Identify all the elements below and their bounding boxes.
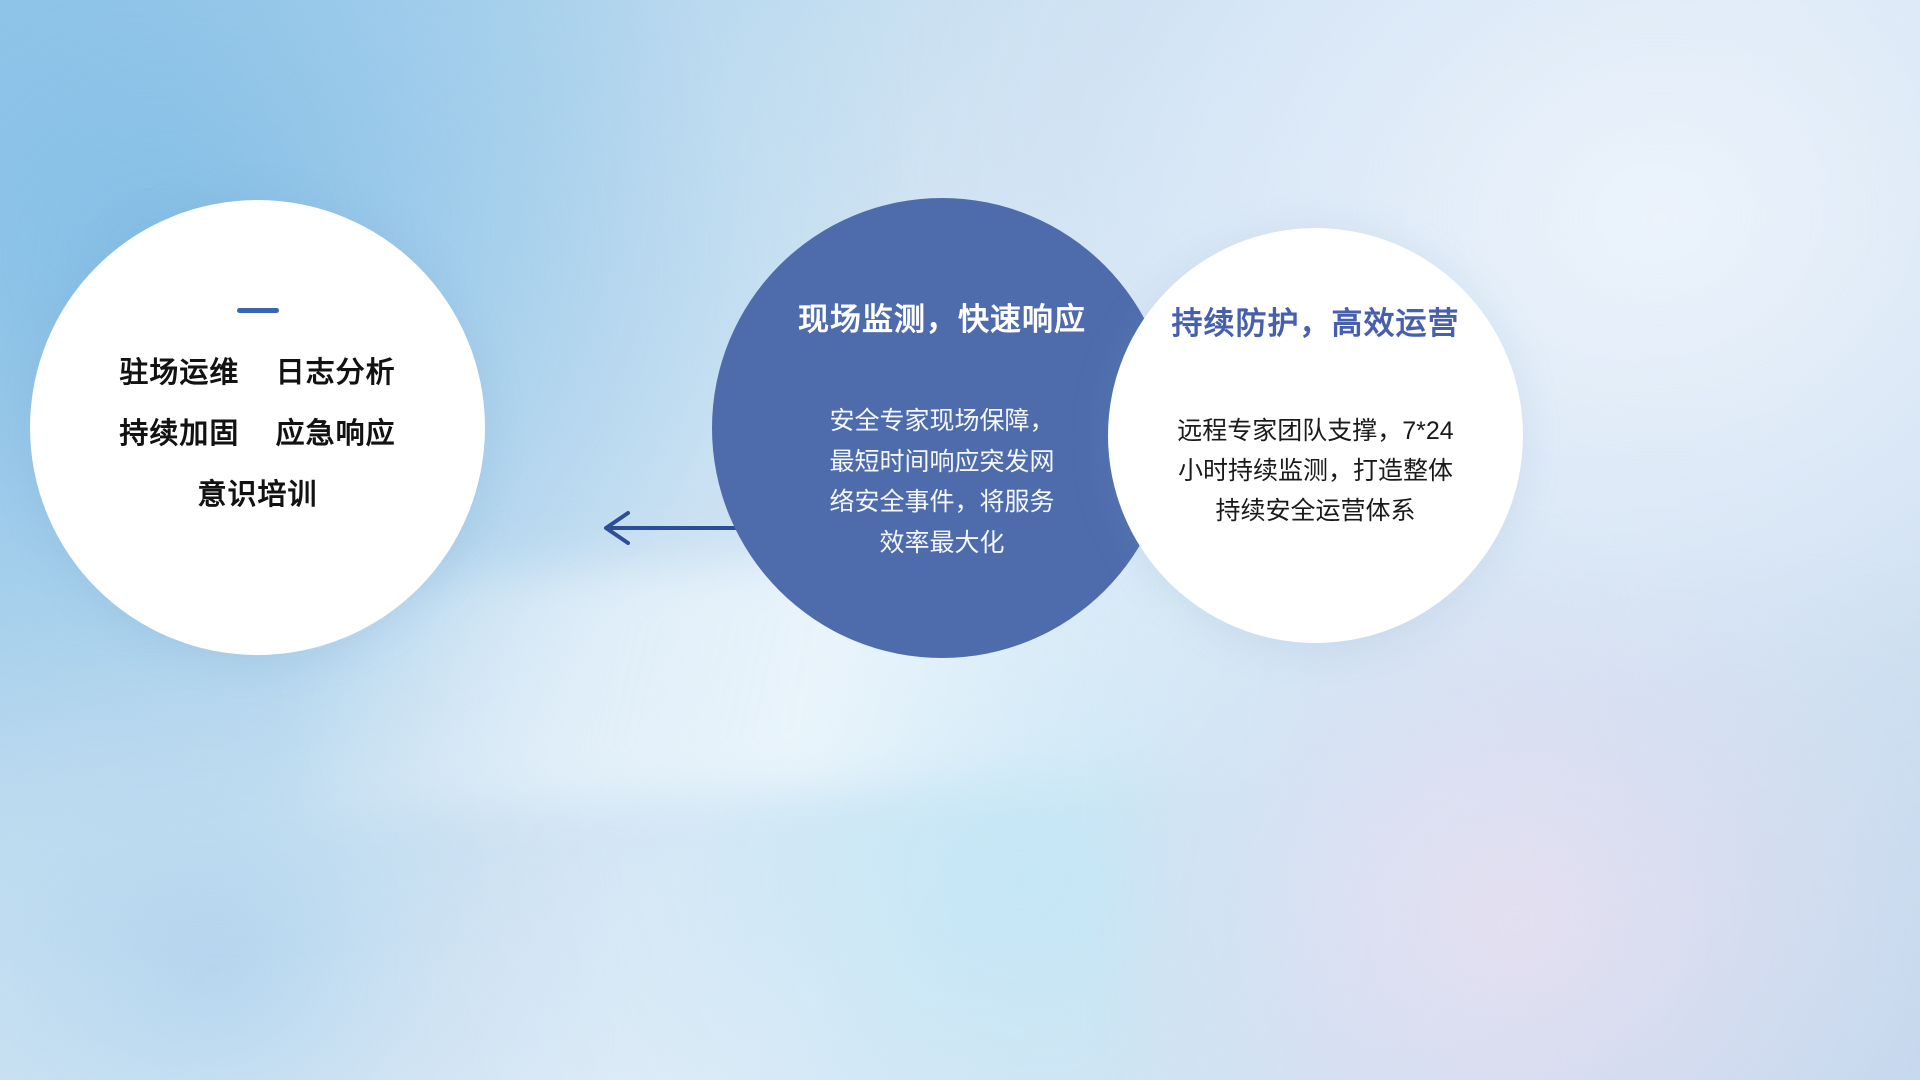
body-line: 小时持续监测，打造整体 xyxy=(1141,451,1491,491)
node-body-text: 安全专家现场保障， 最短时间响应突发网 络安全事件，将服务 效率最大化 xyxy=(782,401,1102,563)
capability-keyword-list: 驻场运维 日志分析 持续加固 应急响应 意识培训 xyxy=(119,359,395,510)
body-line: 远程专家团队支撑，7*24 xyxy=(1141,411,1491,451)
body-line: 效率最大化 xyxy=(782,523,1102,564)
list-item: 持续加固 应急响应 xyxy=(119,420,395,449)
node-heading: 持续防护，高效运营 xyxy=(1172,298,1460,343)
body-line: 持续安全运营体系 xyxy=(1141,491,1491,531)
node-onsite-monitoring-circle[interactable]: 现场监测，快速响应 安全专家现场保障， 最短时间响应突发网 络安全事件，将服务 … xyxy=(712,198,1172,658)
slide-canvas: 驻场运维 日志分析 持续加固 应急响应 意识培训 现场监测，快速响应 安全专家现… xyxy=(0,0,1920,1080)
list-item: 意识培训 xyxy=(119,481,395,510)
node-heading: 现场监测，快速响应 xyxy=(798,294,1086,339)
body-line: 最短时间响应突发网 xyxy=(782,442,1102,483)
body-line: 络安全事件，将服务 xyxy=(782,482,1102,523)
list-item: 驻场运维 日志分析 xyxy=(119,359,395,388)
node-continuous-protection-circle[interactable]: 持续防护，高效运营 远程专家团队支撑，7*24 小时持续监测，打造整体 持续安全… xyxy=(1108,228,1523,643)
node-body-text: 远程专家团队支撑，7*24 小时持续监测，打造整体 持续安全运营体系 xyxy=(1141,411,1491,531)
body-line: 安全专家现场保障， xyxy=(782,401,1102,442)
divider-dash-icon xyxy=(237,308,279,313)
node-capabilities-circle[interactable]: 驻场运维 日志分析 持续加固 应急响应 意识培训 xyxy=(30,200,485,655)
